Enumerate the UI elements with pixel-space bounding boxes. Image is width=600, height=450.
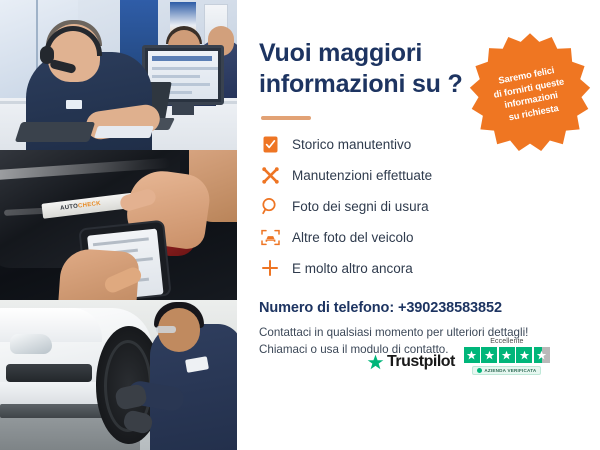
page-title: Vuoi maggiori informazioni su ? (259, 38, 474, 100)
starburst-shape (468, 32, 592, 156)
checkbox-checked-icon (259, 134, 281, 154)
phone-number-line[interactable]: Numero di telefono: +390238583852 (259, 300, 582, 316)
star-icon (464, 347, 480, 363)
plus-icon (259, 258, 281, 278)
star-icon (481, 347, 497, 363)
star-icon (499, 347, 515, 363)
verified-company-badge: AZIENDA VERIFICATA (472, 366, 541, 375)
list-item-label: E molto altro ancora (292, 261, 413, 276)
promo-banner: AUTOCHECK (0, 0, 600, 450)
vehicle-inspection-photo: AUTOCHECK (0, 150, 237, 300)
list-item: Manutenzioni effettuate (259, 165, 582, 185)
verified-label: AZIENDA VERIFICATA (484, 368, 536, 373)
trustpilot-stars (464, 347, 550, 363)
info-on-request-badge: Saremo felici di fornirti queste informa… (468, 32, 592, 156)
star-icon (516, 347, 532, 363)
list-item-label: Foto dei segni di usura (292, 199, 429, 214)
mechanic-wheel-photo (0, 300, 237, 450)
call-center-agents-photo (0, 0, 237, 150)
list-item-label: Storico manutentivo (292, 137, 411, 152)
trustpilot-rating-label: Eccellente (490, 338, 523, 345)
car-frame-icon (259, 227, 281, 247)
list-item: Altre foto del veicolo (259, 227, 582, 247)
magnifier-icon (259, 196, 281, 216)
trustpilot-brand-label: Trustpilot (387, 353, 455, 371)
verified-dot-icon (477, 368, 482, 373)
content-panel: Vuoi maggiori informazioni su ? Storico … (237, 0, 600, 450)
star-half-icon (534, 347, 550, 363)
crossed-tools-icon (259, 165, 281, 185)
trustpilot-rating: Eccellente AZIENDA VERIFICATA (464, 338, 550, 375)
list-item: Foto dei segni di usura (259, 196, 582, 216)
trustpilot-star-icon (367, 354, 384, 371)
list-item: E molto altro ancora (259, 258, 582, 278)
trustpilot-badge[interactable]: Trustpilot Eccellente AZIENDA VERIFICATA (367, 338, 550, 375)
list-item-label: Manutenzioni effettuate (292, 168, 432, 183)
trustpilot-logo: Trustpilot (367, 353, 455, 375)
photo-column: AUTOCHECK (0, 0, 237, 450)
title-divider (261, 116, 311, 120)
list-item-label: Altre foto del veicolo (292, 230, 414, 245)
